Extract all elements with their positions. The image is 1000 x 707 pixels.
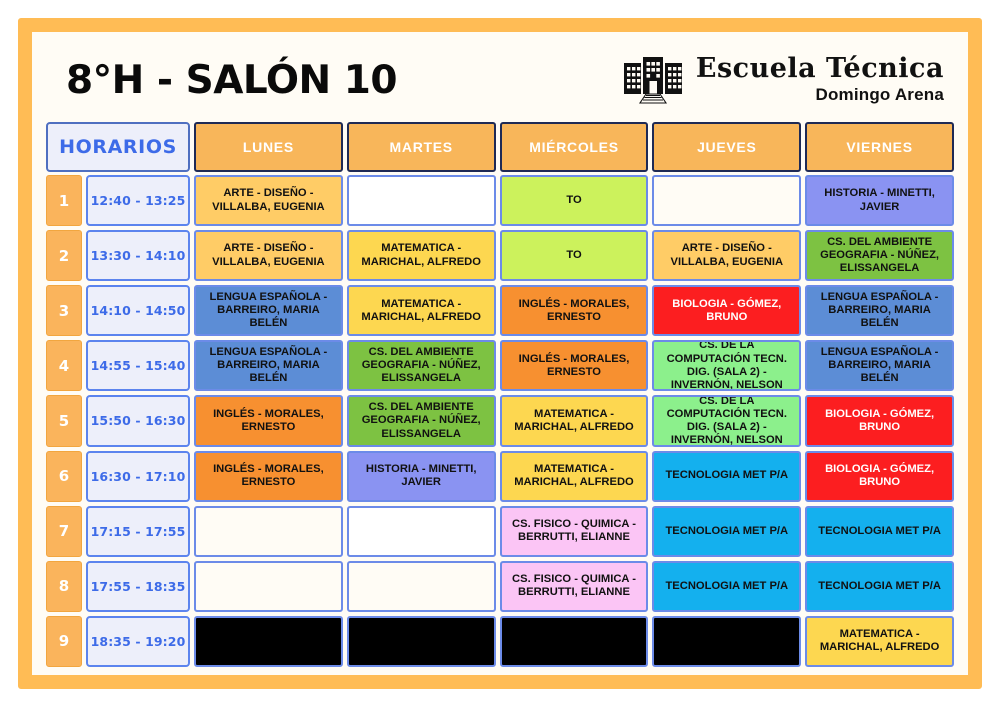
page-header: 8°H - SALÓN 10 [42,38,958,122]
school-subtitle: Domingo Arena [696,85,944,105]
table-row: 616:30 - 17:10INGLÉS - MORALES, ERNESTOH… [46,451,954,502]
schedule-cell[interactable]: LENGUA ESPAÑOLA - BARREIRO, MARIA BELÉN [805,285,954,336]
table-row: 213:30 - 14:10ARTE - DISEÑO - VILLALBA, … [46,230,954,281]
schedule-cell[interactable]: TO [500,230,649,281]
page-title: 8°H - SALÓN 10 [66,58,397,103]
schedule-cell[interactable]: HISTORIA - MINETTI, JAVIER [347,451,496,502]
row-number-badge: 5 [46,395,82,446]
schedule-cell[interactable]: INGLÉS - MORALES, ERNESTO [500,285,649,336]
table-header-row: HORARIOS LUNES MARTES MIÉRCOLES JUEVES V… [46,122,954,172]
schedule-cell[interactable]: MATEMATICA - MARICHAL, ALFREDO [347,285,496,336]
schedule-cell[interactable] [347,506,496,557]
row-number-badge: 9 [46,616,82,667]
school-name: Escuela Técnica [696,55,944,83]
schedule-cell[interactable]: LENGUA ESPAÑOLA - BARREIRO, MARIA BELÉN [194,340,343,391]
row-time-range: 17:15 - 17:55 [86,506,190,557]
row-number-badge: 1 [46,175,82,226]
row-time-range: 14:10 - 14:50 [86,285,190,336]
schedule-cell[interactable]: INGLÉS - MORALES, ERNESTO [194,395,343,446]
schedule-cell[interactable]: TECNOLOGIA MET P/A [652,451,801,502]
schedule-cell[interactable]: MATEMATICA - MARICHAL, ALFREDO [805,616,954,667]
schedule-cell[interactable]: CS. DEL AMBIENTE GEOGRAFIA - NÚÑEZ, ELIS… [347,340,496,391]
schedule-cell[interactable]: LENGUA ESPAÑOLA - BARREIRO, MARIA BELÉN [194,285,343,336]
schedule-cell[interactable]: CS. DE LA COMPUTACIÓN TECN. DIG. (SALA 2… [652,340,801,391]
row-time-range: 18:35 - 19:20 [86,616,190,667]
row-time-range: 16:30 - 17:10 [86,451,190,502]
table-row: 817:55 - 18:35CS. FISICO - QUIMICA - BER… [46,561,954,612]
schedule-cell[interactable]: TO [500,175,649,226]
schedule-cell[interactable]: BIOLOGIA - GÓMEZ, BRUNO [805,395,954,446]
schedule-cell[interactable]: BIOLOGIA - GÓMEZ, BRUNO [805,451,954,502]
table-row: 918:35 - 19:20MATEMATICA - MARICHAL, ALF… [46,616,954,667]
schedule-cell[interactable]: MATEMATICA - MARICHAL, ALFREDO [500,451,649,502]
row-number-badge: 6 [46,451,82,502]
table-row: 414:55 - 15:40LENGUA ESPAÑOLA - BARREIRO… [46,340,954,391]
schedule-cell[interactable] [500,616,649,667]
schedule-cell[interactable]: HISTORIA - MINETTI, JAVIER [805,175,954,226]
schedule-cell[interactable] [652,616,801,667]
schedule-cell[interactable] [347,616,496,667]
schedule-cell[interactable]: TECNOLOGIA MET P/A [652,506,801,557]
schedule-cell[interactable]: LENGUA ESPAÑOLA - BARREIRO, MARIA BELÉN [805,340,954,391]
schedule-cell[interactable] [194,506,343,557]
schedule-cell[interactable]: ARTE - DISEÑO - VILLALBA, EUGENIA [194,230,343,281]
header-day-martes: MARTES [347,122,496,172]
schedule-cell[interactable]: CS. DEL AMBIENTE GEOGRAFIA - NÚÑEZ, ELIS… [805,230,954,281]
table-row: 112:40 - 13:25ARTE - DISEÑO - VILLALBA, … [46,175,954,226]
schedule-cell[interactable]: CS. FISICO - QUIMICA - BERRUTTI, ELIANNE [500,561,649,612]
header-day-lunes: LUNES [194,122,343,172]
row-number-badge: 4 [46,340,82,391]
row-time-range: 13:30 - 14:10 [86,230,190,281]
schedule-cell[interactable]: CS. FISICO - QUIMICA - BERRUTTI, ELIANNE [500,506,649,557]
table-row: 515:50 - 16:30INGLÉS - MORALES, ERNESTOC… [46,395,954,446]
schedule-cell[interactable]: CS. DE LA COMPUTACIÓN TECN. DIG. (SALA 2… [652,395,801,446]
schedule-cell[interactable]: TECNOLOGIA MET P/A [805,561,954,612]
schedule-cell[interactable]: TECNOLOGIA MET P/A [805,506,954,557]
table-row: 717:15 - 17:55CS. FISICO - QUIMICA - BER… [46,506,954,557]
schedule-cell[interactable] [194,616,343,667]
schedule-cell[interactable]: INGLÉS - MORALES, ERNESTO [194,451,343,502]
header-day-miercoles: MIÉRCOLES [500,122,649,172]
row-time-range: 12:40 - 13:25 [86,175,190,226]
schedule-cell[interactable]: ARTE - DISEÑO - VILLALBA, EUGENIA [194,175,343,226]
schedule-cell[interactable]: INGLÉS - MORALES, ERNESTO [500,340,649,391]
school-name-block: Escuela Técnica Domingo Arena [696,55,944,104]
school-building-icon [622,52,684,109]
header-horarios: HORARIOS [46,122,190,172]
table-body: 112:40 - 13:25ARTE - DISEÑO - VILLALBA, … [46,175,954,667]
schedule-page: 8°H - SALÓN 10 [0,0,1000,707]
schedule-cell[interactable]: BIOLOGIA - GÓMEZ, BRUNO [652,285,801,336]
schedule-cell[interactable]: CS. DEL AMBIENTE GEOGRAFIA - NÚÑEZ, ELIS… [347,395,496,446]
row-time-range: 17:55 - 18:35 [86,561,190,612]
schedule-cell[interactable]: TECNOLOGIA MET P/A [652,561,801,612]
schedule-frame: 8°H - SALÓN 10 [18,18,982,689]
row-number-badge: 3 [46,285,82,336]
schedule-table: HORARIOS LUNES MARTES MIÉRCOLES JUEVES V… [42,122,958,667]
schedule-cell[interactable] [347,175,496,226]
schedule-cell[interactable]: MATEMATICA - MARICHAL, ALFREDO [347,230,496,281]
row-number-badge: 2 [46,230,82,281]
schedule-cell[interactable] [194,561,343,612]
schedule-cell[interactable] [347,561,496,612]
schedule-cell[interactable] [652,175,801,226]
schedule-cell[interactable]: MATEMATICA - MARICHAL, ALFREDO [500,395,649,446]
row-number-badge: 8 [46,561,82,612]
schedule-cell[interactable]: ARTE - DISEÑO - VILLALBA, EUGENIA [652,230,801,281]
row-number-badge: 7 [46,506,82,557]
table-row: 314:10 - 14:50LENGUA ESPAÑOLA - BARREIRO… [46,285,954,336]
row-time-range: 15:50 - 16:30 [86,395,190,446]
school-brand: Escuela Técnica Domingo Arena [622,52,944,109]
header-day-viernes: VIERNES [805,122,954,172]
row-time-range: 14:55 - 15:40 [86,340,190,391]
header-day-jueves: JUEVES [652,122,801,172]
